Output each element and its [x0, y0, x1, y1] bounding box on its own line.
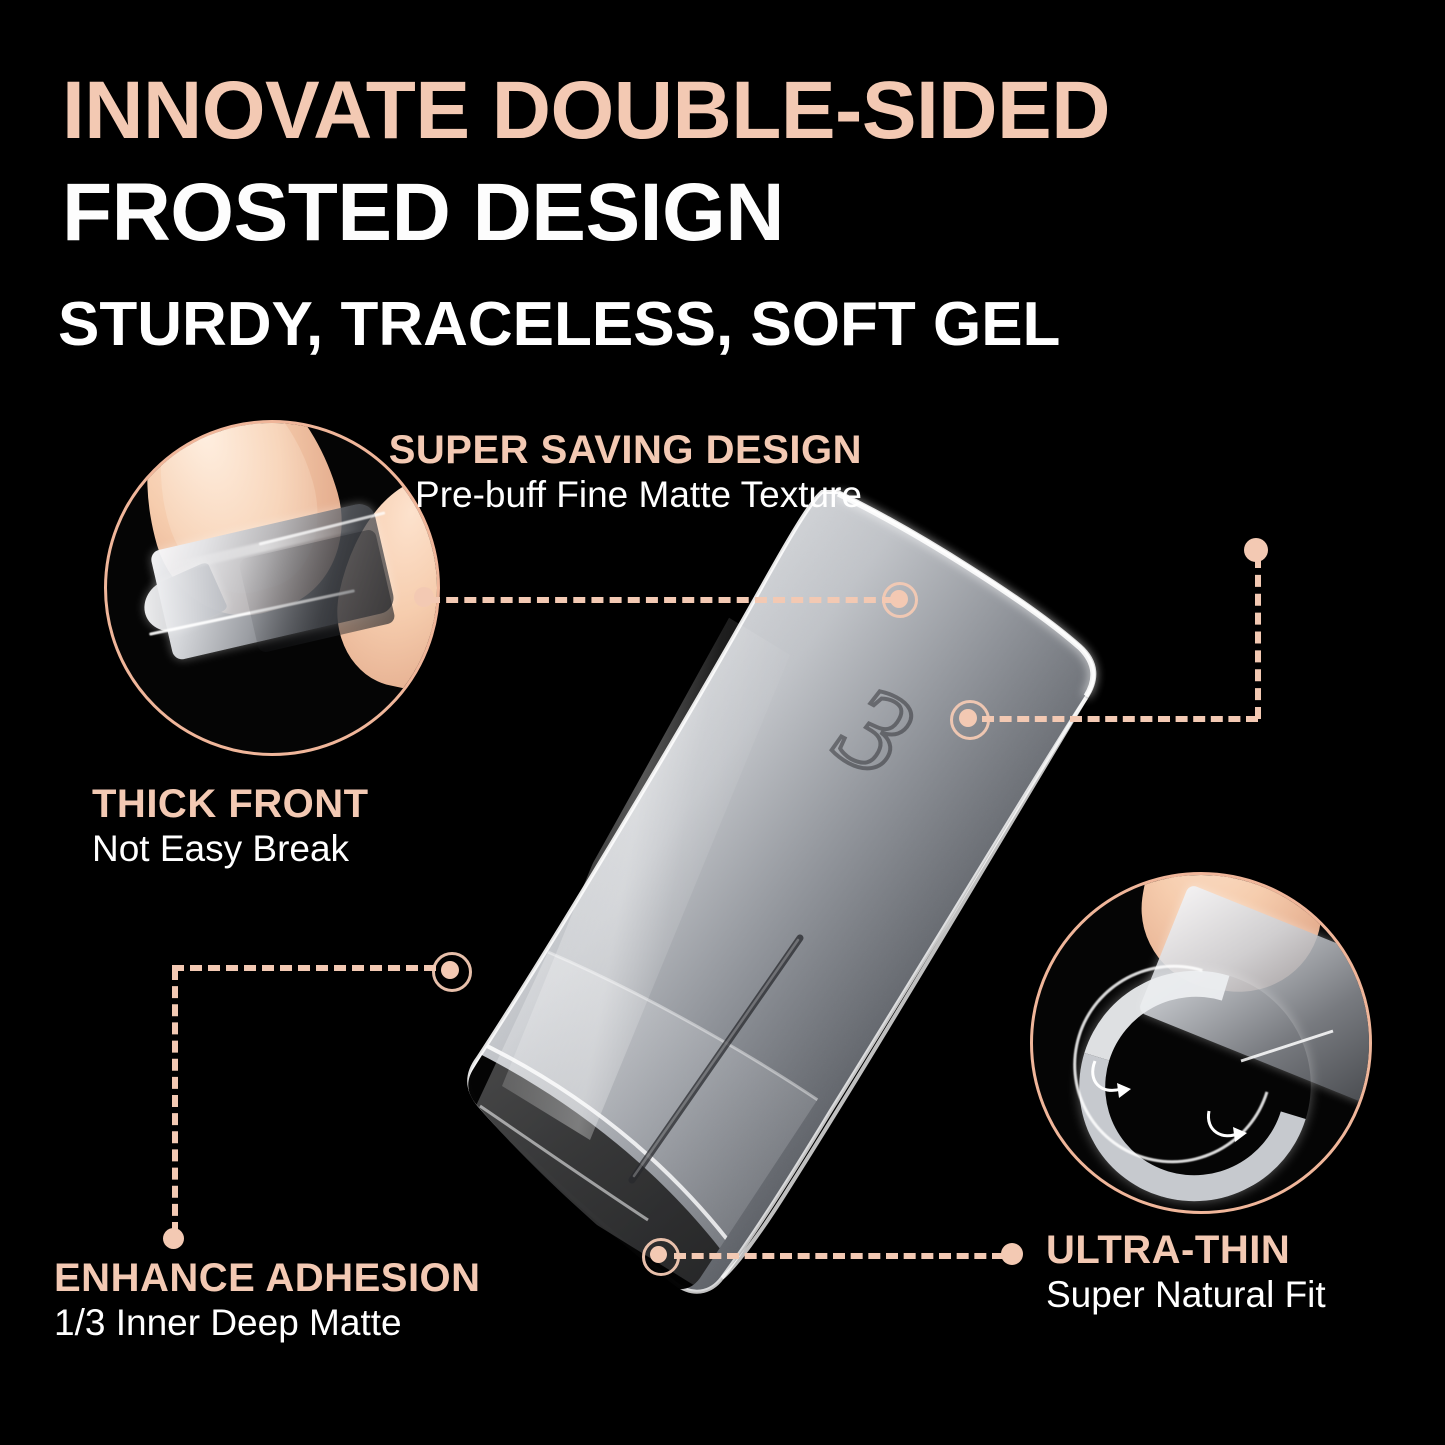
connector-ringdot-enhance-adhesion	[441, 961, 459, 979]
connector-ringdot-thick-front	[890, 590, 908, 608]
callout-subtitle: Super Natural Fit	[1046, 1273, 1326, 1317]
connector-line-thick-front	[428, 597, 894, 603]
callout-subtitle: Pre-buff Fine Matte Texture	[389, 473, 862, 517]
callout-title: SUPER SAVING DESIGN	[389, 428, 862, 473]
callout-thick-front: THICK FRONT Not Easy Break	[92, 782, 369, 871]
callout-title: THICK FRONT	[92, 782, 369, 827]
connector-line-super-saving-h	[982, 716, 1258, 722]
connector-dot-super-saving	[1244, 538, 1268, 562]
headline-line-2: FROSTED DESIGN	[62, 172, 784, 254]
callout-title: ULTRA-THIN	[1046, 1228, 1326, 1273]
connector-line-enhance-h	[172, 965, 436, 971]
headline-subline: STURDY, TRACELESS, SOFT GEL	[58, 294, 1060, 356]
callout-enhance-adhesion: ENHANCE ADHESION 1/3 Inner Deep Matte	[54, 1256, 481, 1345]
connector-line-ultra-thin	[674, 1253, 1004, 1259]
callout-super-saving-design: SUPER SAVING DESIGN Pre-buff Fine Matte …	[389, 428, 862, 517]
infographic-canvas: INNOVATE DOUBLE-SIDED FROSTED DESIGN STU…	[0, 0, 1445, 1445]
connector-line-enhance-v	[172, 968, 178, 1234]
connector-dot-enhance-adhesion	[163, 1228, 184, 1249]
connector-dot-ultra-thin	[1001, 1243, 1023, 1265]
headline-line-1: INNOVATE DOUBLE-SIDED	[62, 70, 1110, 152]
callout-subtitle: Not Easy Break	[92, 827, 369, 871]
callout-ultra-thin: ULTRA-THIN Super Natural Fit	[1046, 1228, 1326, 1317]
connector-ringdot-ultra-thin	[650, 1246, 667, 1263]
connector-ringdot-super-saving	[959, 709, 977, 727]
connector-line-super-saving-v	[1255, 556, 1261, 719]
ultra-thin-inset	[1030, 872, 1372, 1214]
callout-title: ENHANCE ADHESION	[54, 1256, 481, 1301]
callout-subtitle: 1/3 Inner Deep Matte	[54, 1301, 481, 1345]
